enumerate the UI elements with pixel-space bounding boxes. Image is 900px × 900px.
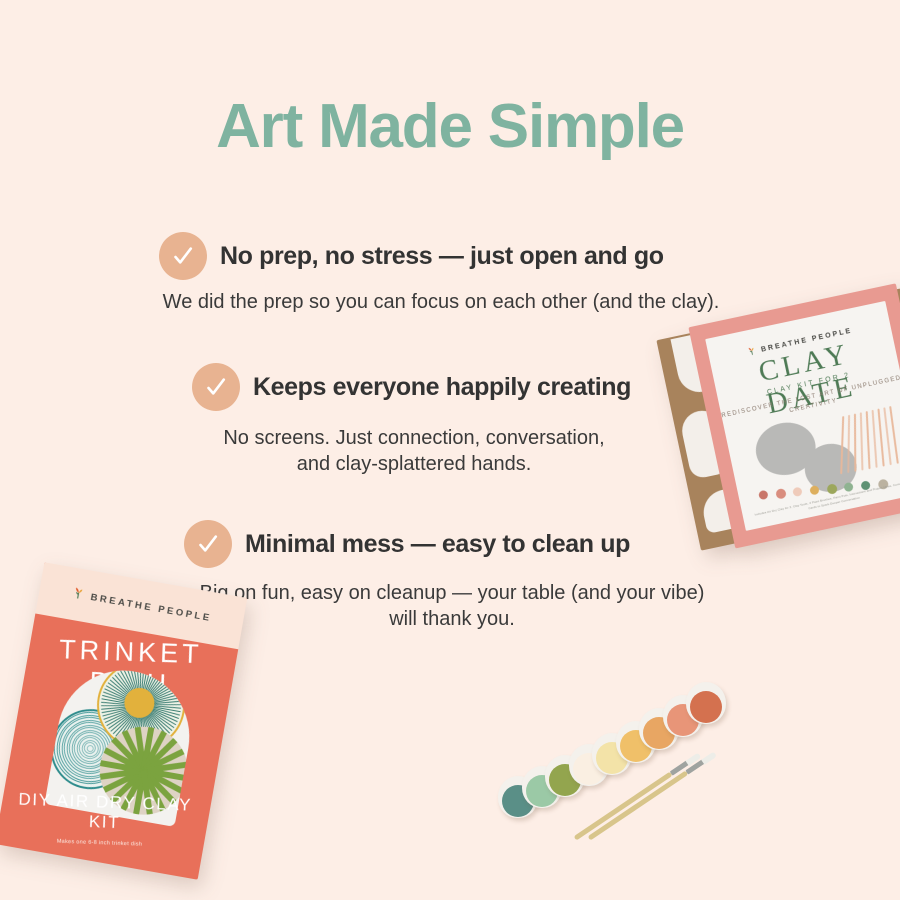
clay-swatch-dot [758, 490, 769, 501]
trinket-dish-body: BREATHE PEOPLE TRINKET DISH DIY AIR DRY … [0, 562, 247, 879]
promo-graphic: Art Made Simple No prep, no stress — jus… [0, 0, 900, 900]
benefit-title: Minimal mess — easy to clean up [245, 530, 630, 559]
benefit-body: Big on fun, easy on cleanup — your table… [192, 580, 712, 633]
clay-stick [872, 410, 878, 468]
benefit-title: No prep, no stress — just open and go [220, 242, 664, 271]
clay-ball [689, 690, 723, 724]
clay-tool-stick [588, 751, 717, 840]
clay-tool-stick [574, 753, 701, 841]
product-box-clay-date: BREATHE PEOPLE CLAY DATE CLAY KIT FOR 2 … [656, 288, 900, 550]
sprig-leaf-icon [69, 584, 86, 605]
check-circle-icon [184, 520, 232, 568]
benefit-item: No prep, no stress — just open and go We… [159, 232, 721, 315]
clay-date-card: BREATHE PEOPLE CLAY DATE CLAY KIT FOR 2 … [705, 301, 900, 531]
benefit-body: No screens. Just connection, conversatio… [204, 425, 624, 478]
benefit-title: Keeps everyone happily creating [253, 373, 631, 402]
page-title: Art Made Simple [0, 96, 900, 158]
benefit-item: Minimal mess — easy to clean up Big on f… [184, 520, 712, 633]
benefit-heading-row: Keeps everyone happily creating [192, 363, 631, 411]
benefit-heading-row: Minimal mess — easy to clean up [184, 520, 712, 568]
clay-ball-color [690, 691, 722, 723]
trinket-dish-fine-print: Makes one 6-8 inch trinket dish [0, 837, 203, 850]
trinket-dish-subtitle: DIY AIR DRY CLAY KIT [1, 789, 208, 836]
benefit-heading-row: No prep, no stress — just open and go [159, 232, 721, 280]
clay-swatch-dot [792, 486, 803, 497]
benefit-item: Keeps everyone happily creating No scree… [192, 363, 631, 478]
clay-tools-group [575, 748, 735, 853]
trinket-dish-brand: BREATHE PEOPLE [90, 591, 213, 623]
check-circle-icon [159, 232, 207, 280]
clay-stick [860, 412, 864, 470]
dish-ring [86, 744, 94, 752]
clay-stick [854, 414, 856, 472]
product-box-trinket-dish: BREATHE PEOPLE TRINKET DISH DIY AIR DRY … [0, 562, 247, 879]
clay-swatch-dot [775, 488, 787, 500]
clay-swatch-dot [809, 485, 820, 496]
check-circle-icon [192, 363, 240, 411]
benefit-body: We did the prep so you can focus on each… [161, 289, 721, 315]
clay-stick [866, 411, 871, 469]
clay-swatch-dot [826, 483, 838, 495]
